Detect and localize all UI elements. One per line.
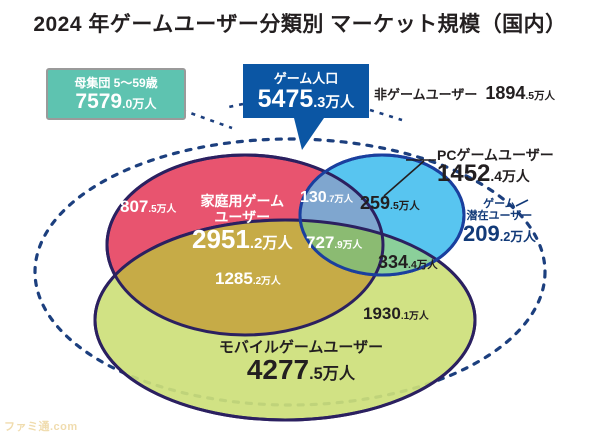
game-population-callout: ゲーム人口 5475.3万人 [243, 64, 369, 118]
segment-console-pc-value: 130.7万人 [300, 190, 353, 207]
gamepop-connector-left [224, 104, 243, 108]
segment-pc-only-value: 259.5万人 [360, 194, 420, 213]
game-population-value: 5475.3万人 [258, 85, 355, 114]
population-connector [182, 110, 232, 128]
population-value: 7579.0万人 [75, 90, 156, 114]
potential-gamer-label: ゲーム 潜在ユーザー 209.2万人 [463, 198, 536, 245]
gamepop-connector-right [370, 110, 402, 120]
population-box: 母集団 5〜59歳 7579.0万人 [46, 68, 186, 120]
non-gamer-label: 非ゲームユーザー1894.5万人 [374, 84, 555, 104]
console-gamer-label: 家庭用ゲーム ユーザー 2951.2万人 [192, 193, 293, 253]
mobile-gamer-label: モバイルゲームユーザー 4277.5万人 [186, 340, 416, 384]
pc-gamer-label: PCゲームユーザー 1452.4万人 [437, 148, 554, 186]
segment-pc-mobile-value: 334.4万人 [378, 253, 438, 272]
segment-mobile-only-value: 1930.1万人 [363, 305, 429, 323]
population-label: 母集団 5〜59歳 [74, 74, 157, 91]
infographic-canvas: 2024 年ゲームユーザー分類別 マーケット規模（国内） [0, 0, 600, 440]
segment-console-mobile-pc-value: 727.9万人 [306, 234, 362, 252]
gamepop-pointer [294, 118, 324, 150]
segment-console-only-value: 807.5万人 [120, 198, 176, 216]
watermark: ファミ通.com [4, 418, 78, 434]
segment-console-mobile-value: 1285.2万人 [215, 270, 281, 288]
